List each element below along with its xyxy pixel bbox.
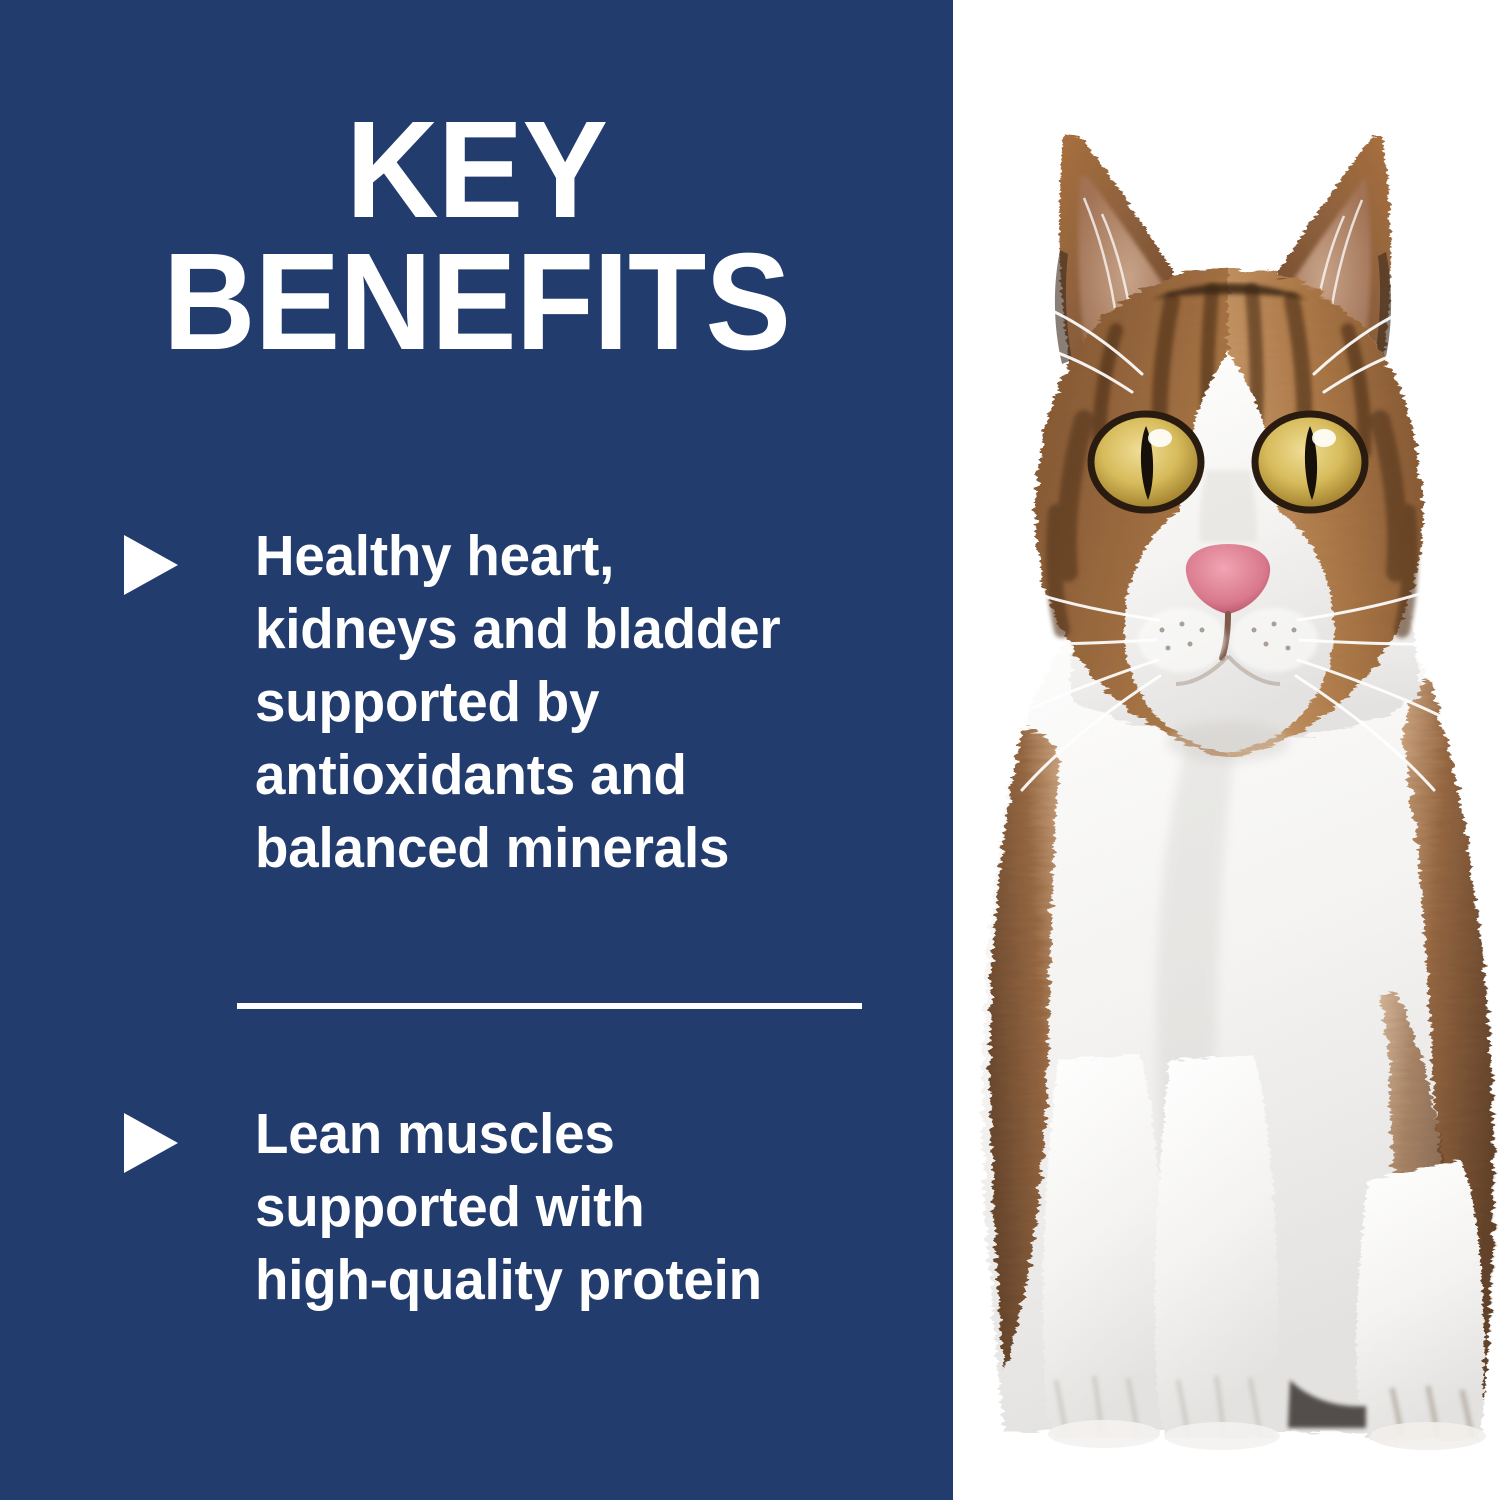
cat-photo [953, 0, 1500, 1500]
product-benefits-banner: KEY BENEFITS Healthy heart, kidneys and … [0, 0, 1500, 1500]
key-benefits-panel: KEY BENEFITS Healthy heart, kidneys and … [0, 0, 953, 1500]
section-divider [237, 1003, 862, 1009]
page-title: KEY BENEFITS [33, 104, 919, 369]
triangle-right-icon [124, 535, 178, 595]
triangle-right-icon [124, 1113, 178, 1173]
benefit-text: Healthy heart, kidneys and bladder suppo… [255, 520, 869, 885]
benefit-text: Lean muscles supported with high-quality… [255, 1098, 869, 1317]
